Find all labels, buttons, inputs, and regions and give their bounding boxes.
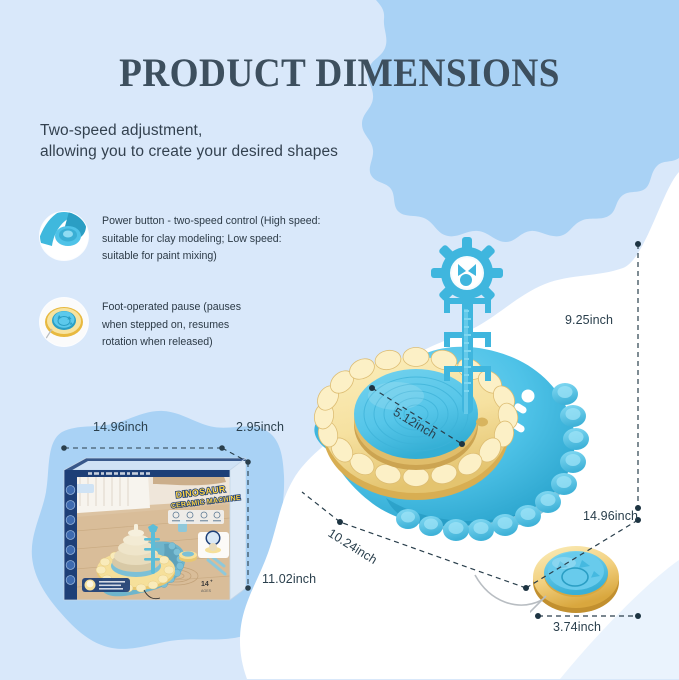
package-depth-line bbox=[222, 448, 248, 462]
subtitle-line-1: Two-speed adjustment, bbox=[40, 120, 338, 141]
package-width-label: 14.96inch bbox=[93, 420, 148, 434]
power-knob-thumbnail bbox=[40, 212, 88, 260]
package-height-label: 11.02inch bbox=[262, 572, 316, 586]
product-left-leader-line bbox=[302, 492, 340, 522]
product-side-edge-label: 14.96inch bbox=[583, 509, 638, 523]
product-dimension-endpoints bbox=[337, 241, 641, 591]
page-title: PRODUCT DIMENSIONS bbox=[24, 49, 655, 96]
foot-pedal-thumbnail bbox=[40, 298, 88, 346]
product-height-label: 9.25inch bbox=[565, 313, 613, 327]
pedal-diameter-label: 3.74inch bbox=[553, 620, 601, 634]
pedal-cord bbox=[475, 575, 542, 605]
package-depth-label: 2.95inch bbox=[236, 420, 284, 434]
product-side-edge-line bbox=[526, 520, 638, 588]
feature-text-line: Power button - two-speed control (High s… bbox=[102, 213, 352, 231]
subtitle-line-2: allowing you to create your desired shap… bbox=[40, 141, 338, 162]
subtitle: Two-speed adjustment, allowing you to cr… bbox=[40, 120, 338, 162]
package-dimension-endpoints bbox=[61, 445, 251, 591]
product-dimension-lines bbox=[250, 230, 679, 630]
